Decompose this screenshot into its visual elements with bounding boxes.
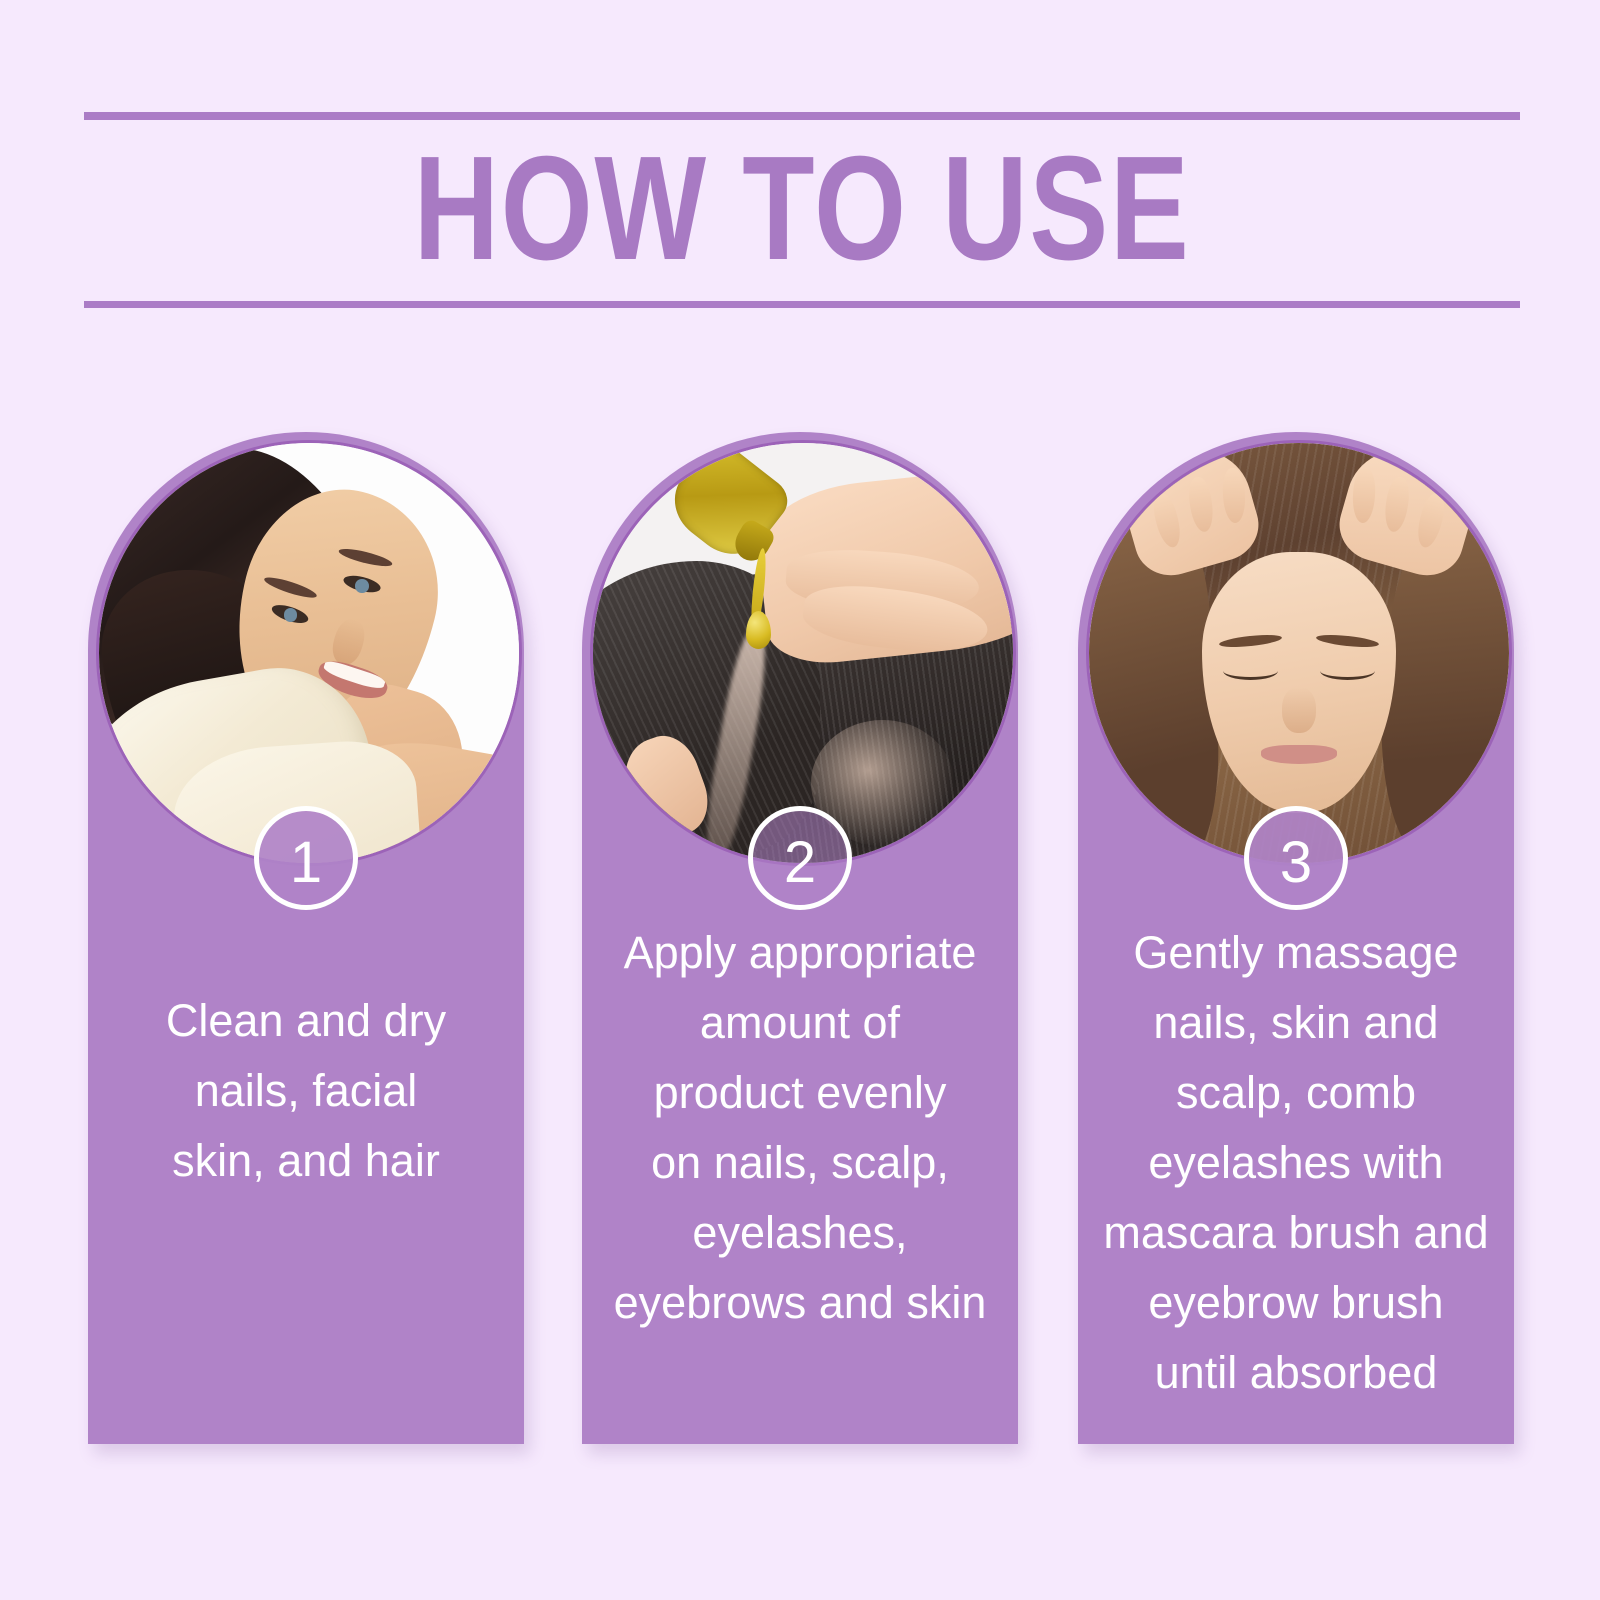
iris-right <box>355 579 368 592</box>
photo-scene-massage <box>1089 443 1509 863</box>
header: HOW TO USE <box>84 112 1520 308</box>
page-title: HOW TO USE <box>228 120 1377 301</box>
step-card-1: 1 Clean and dry nails, facial skin, and … <box>88 432 524 1444</box>
step-card-3: 3 Gently massage nails, skin and scalp, … <box>1078 432 1514 1444</box>
photo-scene-towel <box>99 443 519 863</box>
step-caption-1: Clean and dry nails, facial skin, and ha… <box>88 986 524 1196</box>
step-number-badge-2: 2 <box>748 806 852 910</box>
title-rule-top <box>84 112 1520 120</box>
steps-container: 1 Clean and dry nails, facial skin, and … <box>0 432 1600 1462</box>
closed-eye-right <box>1320 661 1375 679</box>
step-3-photo <box>1086 440 1512 866</box>
mouth-shape <box>1261 745 1337 763</box>
title-rule-bottom <box>84 301 1520 308</box>
step-number-badge-1: 1 <box>254 806 358 910</box>
step-caption-3: Gently massage nails, skin and scalp, co… <box>1078 918 1514 1408</box>
step-2-photo <box>590 440 1016 866</box>
photo-scene-dropper <box>593 443 1013 863</box>
step-caption-2: Apply appropriate amount of product even… <box>582 918 1018 1338</box>
nose-shape <box>1282 687 1316 733</box>
step-card-2: 2 Apply appropriate amount of product ev… <box>582 432 1018 1444</box>
step-1-photo <box>96 440 522 866</box>
step-number-badge-3: 3 <box>1244 806 1348 910</box>
closed-eye-left <box>1223 661 1278 679</box>
iris-left <box>284 608 297 621</box>
